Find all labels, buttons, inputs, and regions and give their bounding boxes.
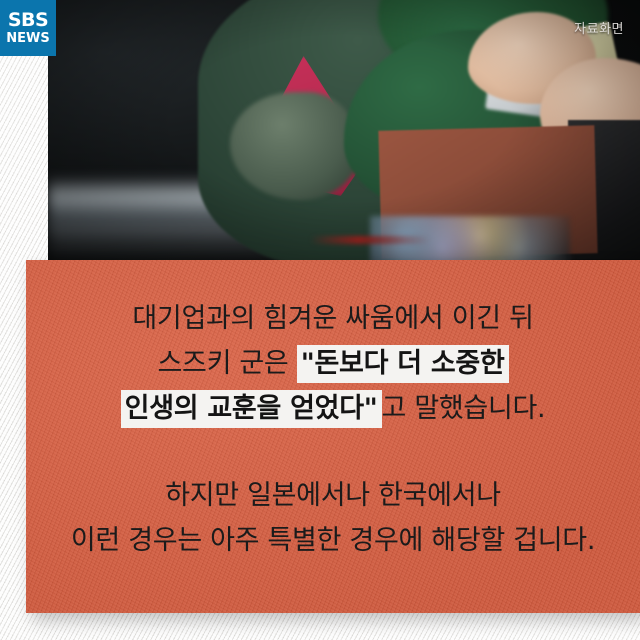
caption-text-block: 대기업과의 힘겨운 싸움에서 이긴 뒤스즈키 군은 "돈보다 더 소중한인생의 … <box>26 296 640 563</box>
news-card: 자료화면 SBS NEWS 대기업과의 힘겨운 싸움에서 이긴 뒤스즈키 군은 … <box>0 0 640 640</box>
caption-line: 스즈키 군은 "돈보다 더 소중한 <box>26 341 640 386</box>
sbs-news-logo: SBS NEWS <box>0 0 56 56</box>
caption-plain-segment: 대기업과의 힘겨운 싸움에서 이긴 뒤 <box>132 303 533 334</box>
caption-plain-segment: 하지만 일본에서나 한국에서나 <box>165 480 501 511</box>
caption-panel: 대기업과의 힘겨운 싸움에서 이긴 뒤스즈키 군은 "돈보다 더 소중한인생의 … <box>26 260 640 613</box>
caption-line: 이런 경우는 아주 특별한 경우에 해당할 겁니다. <box>26 518 640 563</box>
news-photo: 자료화면 <box>48 0 640 264</box>
caption-line: 하지만 일본에서나 한국에서나 <box>26 473 640 518</box>
caption-highlight-segment: "돈보다 더 소중한 <box>297 345 509 383</box>
caption-line: 인생의 교훈을 얻었다"고 말했습니다. <box>26 386 640 431</box>
caption-plain-segment: 스즈키 군은 <box>157 348 296 379</box>
caption-plain-segment: 이런 경우는 아주 특별한 경우에 해당할 겁니다. <box>71 525 595 556</box>
logo-news-text: NEWS <box>6 32 49 45</box>
caption-line-spacer <box>26 431 640 473</box>
logo-sbs-text: SBS <box>8 11 48 30</box>
caption-line: 대기업과의 힘겨운 싸움에서 이긴 뒤 <box>26 296 640 341</box>
photo-vignette <box>48 0 640 264</box>
caption-plain-segment: 고 말했습니다. <box>382 393 546 424</box>
photo-watermark-label: 자료화면 <box>574 18 624 37</box>
caption-highlight-segment: 인생의 교훈을 얻었다" <box>121 390 382 428</box>
